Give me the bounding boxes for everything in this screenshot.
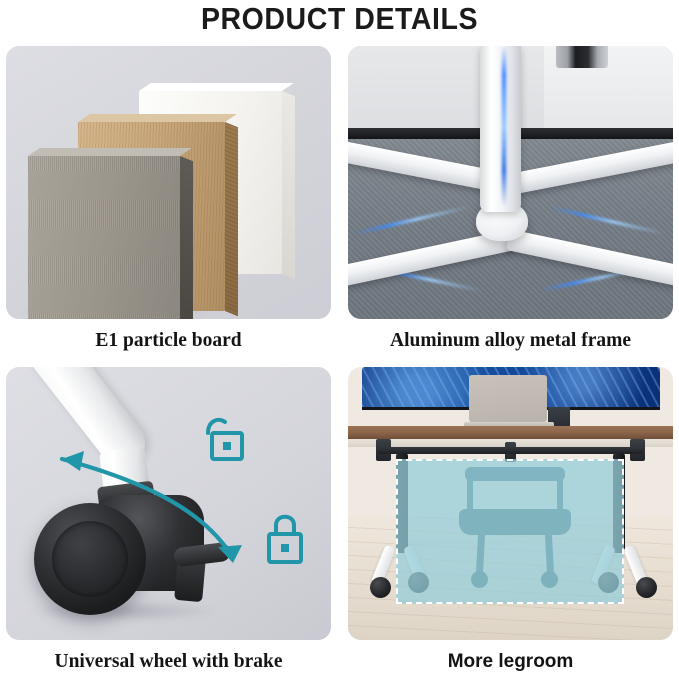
board-grey — [28, 156, 180, 319]
wall-mounted-device — [556, 46, 608, 68]
feature-card-aluminum-alloy-metal-frame: Aluminum alloy metal frame — [348, 46, 673, 352]
feature-image-more-legroom — [348, 367, 673, 640]
lock-indicator-overlay — [6, 367, 331, 640]
feature-image-e1-particle-board — [6, 46, 331, 319]
frame-center-column — [480, 46, 521, 212]
board-grey-face — [28, 156, 180, 319]
board-grey-side-edge — [180, 156, 193, 319]
board-oak-top-edge — [78, 114, 237, 122]
feature-card-e1-particle-board: E1 particle board — [6, 46, 331, 352]
page-title: PRODUCT DETAILS — [27, 2, 652, 36]
desk-caster-front-left — [370, 577, 391, 598]
desk-caster-back-right — [636, 577, 657, 598]
board-grey-top-edge — [28, 148, 192, 156]
curved-double-arrow-icon — [62, 451, 242, 563]
column-glow-highlight — [502, 46, 506, 206]
feature-card-more-legroom: More legroom — [348, 367, 673, 673]
feature-caption-more-legroom: More legroom — [348, 651, 673, 673]
board-white-top-edge — [139, 83, 294, 91]
unlock-icon — [208, 420, 242, 459]
feature-grid: E1 particle board Aluminum alloy metal f… — [0, 46, 679, 673]
laptop-lid — [469, 375, 547, 422]
feature-image-aluminum-alloy-metal-frame — [348, 46, 673, 319]
feature-image-universal-wheel-with-brake — [6, 367, 331, 640]
feature-card-universal-wheel-with-brake: Universal wheel with brake — [6, 367, 331, 673]
feature-caption-universal-wheel-with-brake: Universal wheel with brake — [6, 651, 331, 673]
board-white-side-edge — [282, 91, 295, 279]
feature-caption-e1-particle-board: E1 particle board — [6, 330, 331, 352]
legroom-highlight-box — [396, 459, 624, 604]
lock-icon — [269, 517, 301, 562]
desk-tabletop — [348, 426, 673, 439]
desk-cross-bar — [378, 447, 643, 454]
feature-caption-aluminum-alloy-metal-frame: Aluminum alloy metal frame — [348, 330, 673, 352]
board-oak-side-edge — [225, 122, 238, 316]
